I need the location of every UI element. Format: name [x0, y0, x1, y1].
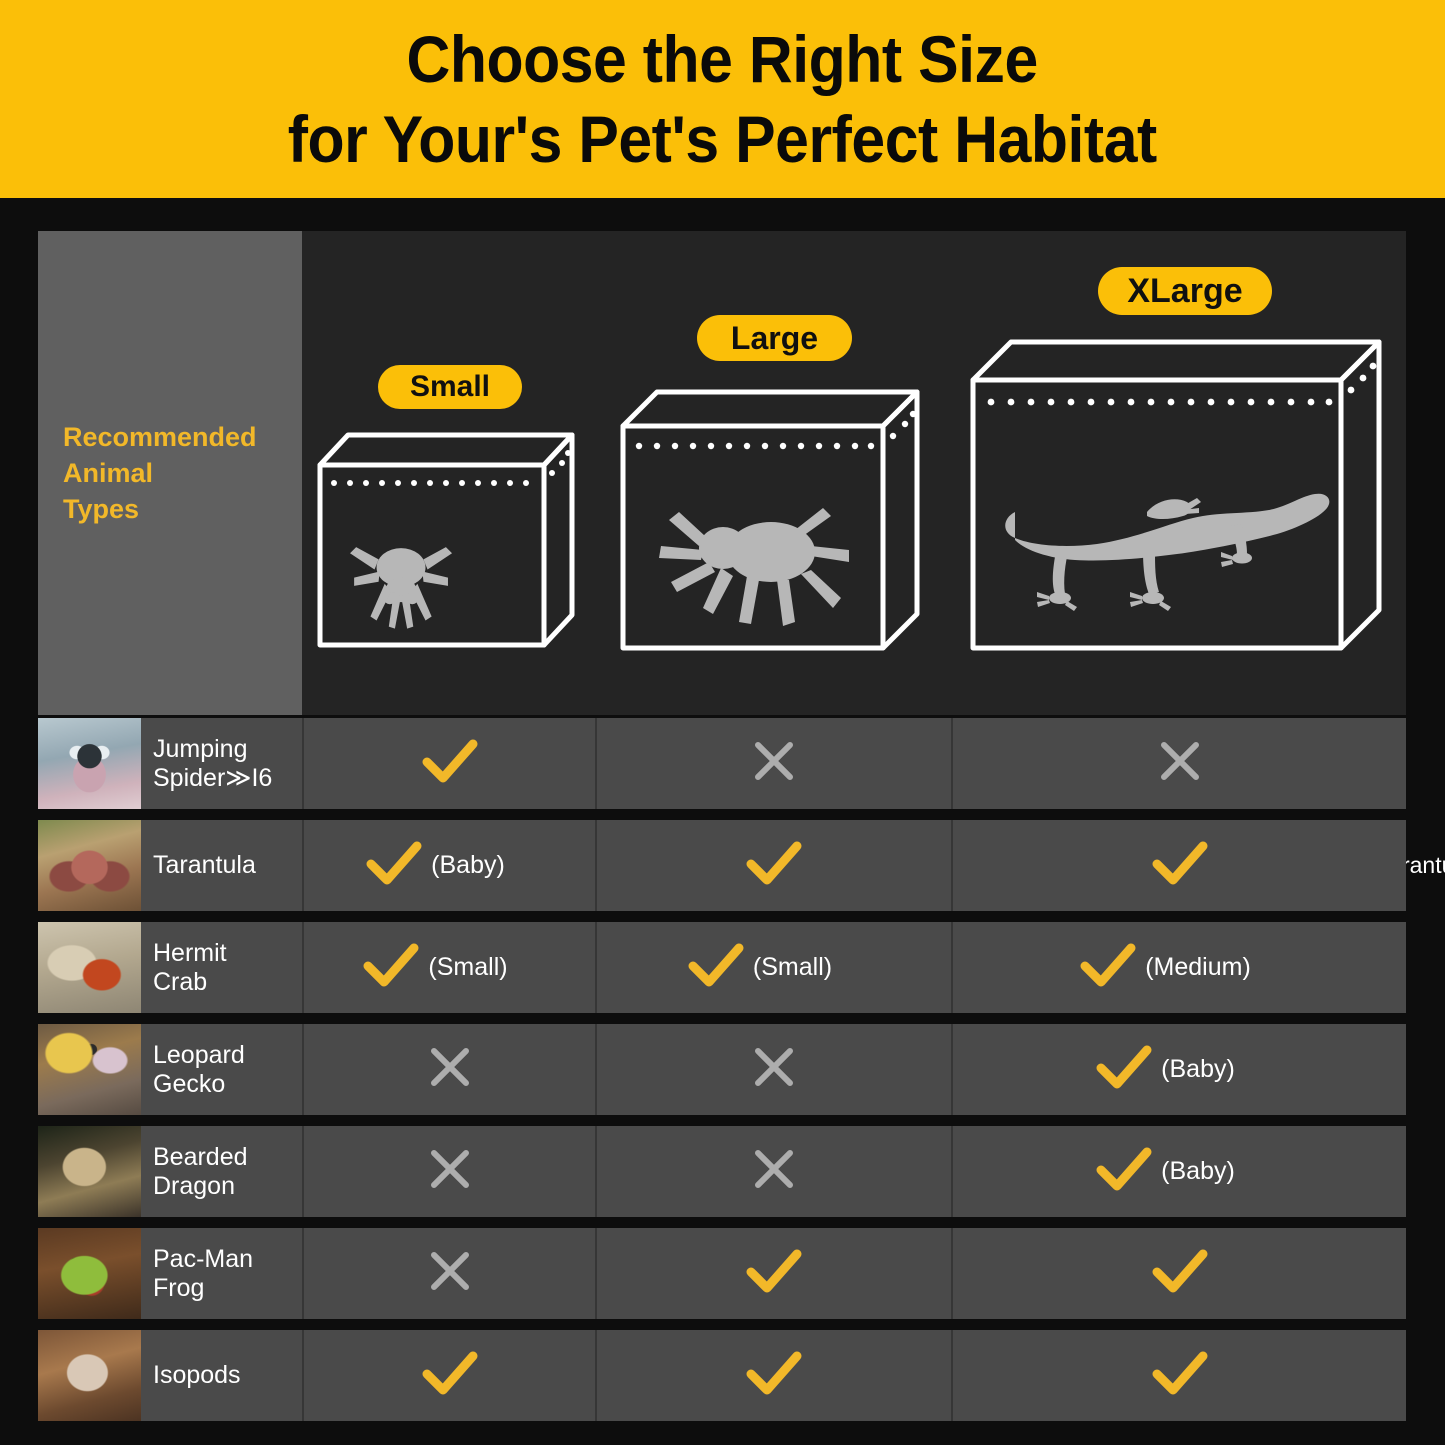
terrarium-xlarge-svg — [965, 332, 1389, 662]
check-icon — [1080, 942, 1136, 993]
compat-mark-wrap — [422, 1350, 478, 1401]
compat-mark-wrap — [1152, 1248, 1208, 1299]
compat-cell-xlarge — [951, 1228, 1406, 1319]
terrarium-small-svg — [312, 425, 580, 653]
animal-name-line-2: Spider≫I6 — [153, 764, 272, 793]
compat-cell-small: (Small) — [302, 922, 595, 1013]
compat-mark-wrap — [1152, 840, 1208, 891]
check-icon — [1152, 840, 1208, 886]
check-icon — [1152, 1248, 1208, 1299]
cross-icon — [427, 1146, 473, 1197]
compat-mark-wrap — [427, 1248, 473, 1299]
compat-cell-xlarge: (Baby) — [951, 1126, 1406, 1217]
check-icon — [746, 840, 802, 891]
check-icon — [1152, 1350, 1208, 1396]
compat-mark-wrap: (Small) — [363, 942, 507, 993]
leopard-gecko-silhouette — [1005, 494, 1329, 611]
terrarium-box-xlarge: Leopard Gecko — [965, 332, 1389, 662]
check-icon — [422, 1350, 478, 1396]
animal-name-label: HermitCrab — [153, 939, 227, 997]
tarantula-silhouette — [659, 508, 849, 626]
cross-icon — [1157, 738, 1203, 784]
compat-mark-wrap — [427, 1146, 473, 1197]
table-row: Pac-ManFrog — [38, 1228, 1406, 1319]
check-icon — [746, 1350, 802, 1401]
table-row: Tarantula(Baby) — [38, 820, 1406, 911]
cross-icon — [427, 1044, 473, 1095]
animal-name-line-1: Jumping — [153, 735, 272, 764]
table-row: HermitCrab(Small)(Small)(Medium) — [38, 922, 1406, 1013]
compat-mark-wrap — [427, 1044, 473, 1095]
animal-name-line-1: Bearded — [153, 1143, 248, 1172]
check-icon — [1152, 840, 1208, 891]
animal-name-cell: Pac-ManFrog — [141, 1228, 302, 1319]
check-icon — [422, 1350, 478, 1401]
compat-mark-wrap — [746, 1248, 802, 1299]
compat-cell-large — [595, 1126, 951, 1217]
cross-icon — [427, 1248, 473, 1294]
size-guide-infographic: Choose the Right Size for Your's Pet's P… — [0, 0, 1445, 1445]
animal-name-line-1: Pac-Man — [153, 1245, 253, 1274]
animal-name-cell: LeopardGecko — [141, 1024, 302, 1115]
compat-note: (Medium) — [1145, 953, 1251, 982]
animal-name-line-2: Dragon — [153, 1172, 248, 1201]
hermit-crab-photo — [38, 922, 141, 1013]
animal-name-cell: Tarantula — [141, 820, 302, 911]
check-icon — [1096, 1044, 1152, 1095]
leopard-gecko-photo — [38, 1024, 141, 1115]
animal-name-label: LeopardGecko — [153, 1041, 245, 1099]
cross-icon — [427, 1146, 473, 1192]
compat-cell-large — [595, 820, 951, 911]
animal-name-label: BeardedDragon — [153, 1143, 248, 1201]
cross-icon — [751, 738, 797, 784]
check-icon — [1096, 1146, 1152, 1197]
animal-name-label: JumpingSpider≫I6 — [153, 735, 272, 793]
animal-name-label: Tarantula — [153, 851, 256, 880]
animal-name-cell: BeardedDragon — [141, 1126, 302, 1217]
animal-name-line-1: Leopard — [153, 1041, 245, 1070]
compat-mark-wrap — [746, 1350, 802, 1401]
vent-holes-xlarge — [988, 363, 1377, 406]
terrarium-large-svg — [615, 382, 925, 660]
check-icon — [1152, 1248, 1208, 1294]
check-icon — [688, 942, 744, 988]
animal-name-line-1: Hermit — [153, 939, 227, 968]
banner-title-line-1: Choose the Right Size — [407, 19, 1038, 99]
compat-cell-xlarge: (Medium) — [951, 922, 1406, 1013]
recommended-animal-types-label: Recommended Animal Types — [38, 419, 257, 527]
size-badge-small: Small — [378, 365, 522, 409]
header-banner: Choose the Right Size for Your's Pet's P… — [0, 0, 1445, 198]
cross-icon — [751, 1044, 797, 1095]
terrarium-box-large: Tarantula — [615, 382, 925, 660]
types-header-line-2: Animal — [63, 455, 257, 491]
size-badge-xlarge: XLarge — [1098, 267, 1272, 315]
cross-icon — [751, 738, 797, 789]
jumping-spider-photo — [38, 718, 141, 809]
compat-mark-wrap: (Small) — [688, 942, 832, 993]
check-icon — [746, 1350, 802, 1396]
animal-name-line-2: Frog — [153, 1274, 253, 1303]
cross-icon — [1157, 738, 1203, 789]
compat-cell-large — [595, 1228, 951, 1319]
cross-icon — [427, 1248, 473, 1299]
compat-mark-wrap: (Baby) — [1096, 1044, 1235, 1095]
compat-mark-wrap — [751, 1044, 797, 1095]
types-header-line-3: Types — [63, 491, 257, 527]
types-header-line-1: Recommended — [63, 419, 257, 455]
pacman-frog-photo — [38, 1228, 141, 1319]
compat-cell-large: (Small) — [595, 922, 951, 1013]
compat-cell-small — [302, 1024, 595, 1115]
animal-name-line-1: Isopods — [153, 1361, 241, 1390]
check-icon — [688, 942, 744, 993]
animal-name-line-2: Crab — [153, 968, 227, 997]
check-icon — [363, 942, 419, 988]
animal-name-line-1: Tarantula — [153, 851, 256, 880]
animal-name-line-2: Gecko — [153, 1070, 245, 1099]
animal-name-label: Pac-ManFrog — [153, 1245, 253, 1303]
compat-note: (Baby) — [431, 851, 505, 880]
check-icon — [422, 738, 478, 784]
compat-mark-wrap — [1157, 738, 1203, 789]
cross-icon — [427, 1044, 473, 1090]
banner-title-line-2: for Your's Pet's Perfect Habitat — [288, 99, 1157, 179]
compat-cell-large — [595, 1024, 951, 1115]
animal-name-cell: Isopods — [141, 1330, 302, 1421]
compat-cell-xlarge — [951, 820, 1406, 911]
compat-mark-wrap: (Medium) — [1080, 942, 1251, 993]
check-icon — [422, 738, 478, 789]
table-row: LeopardGecko(Baby) — [38, 1024, 1406, 1115]
compat-cell-xlarge — [951, 1330, 1406, 1421]
vent-holes-large — [636, 411, 916, 449]
compat-cell-small — [302, 1330, 595, 1421]
compat-note: (Small) — [428, 953, 507, 982]
cross-icon — [751, 1146, 797, 1197]
check-icon — [1096, 1044, 1152, 1090]
table-row: JumpingSpider≫I6 — [38, 718, 1406, 809]
cross-icon — [751, 1044, 797, 1090]
compat-cell-large — [595, 718, 951, 809]
compat-cell-small: (Baby) — [302, 820, 595, 911]
compat-note: (Small) — [753, 953, 832, 982]
tarantula-photo — [38, 820, 141, 911]
table-row: BeardedDragon(Baby) — [38, 1126, 1406, 1217]
compat-cell-small — [302, 1126, 595, 1217]
compat-mark-wrap — [751, 738, 797, 789]
compat-cell-xlarge — [951, 718, 1406, 809]
compat-mark-wrap — [1152, 1350, 1208, 1401]
compat-mark-wrap — [422, 738, 478, 789]
compat-mark-wrap: (Baby) — [1096, 1146, 1235, 1197]
check-icon — [1080, 942, 1136, 988]
check-icon — [366, 840, 422, 891]
check-icon — [363, 942, 419, 993]
check-icon — [746, 1248, 802, 1294]
compat-cell-large — [595, 1330, 951, 1421]
cross-icon — [751, 1146, 797, 1192]
compat-note: (Baby) — [1161, 1055, 1235, 1084]
bearded-dragon-photo — [38, 1126, 141, 1217]
vent-holes-small — [331, 450, 571, 486]
animal-name-cell: HermitCrab — [141, 922, 302, 1013]
compat-mark-wrap — [746, 840, 802, 891]
compat-cell-small — [302, 1228, 595, 1319]
recommended-animal-types-header: Recommended Animal Types — [38, 231, 302, 715]
animal-name-cell: JumpingSpider≫I6 — [141, 718, 302, 809]
compat-mark-wrap: (Baby) — [366, 840, 505, 891]
animal-name-label: Isopods — [153, 1361, 241, 1390]
table-row: Isopods — [38, 1330, 1406, 1421]
check-icon — [746, 1248, 802, 1299]
compat-note: (Baby) — [1161, 1157, 1235, 1186]
compat-cell-xlarge: (Baby) — [951, 1024, 1406, 1115]
jumping-spider-silhouette — [350, 547, 452, 629]
compat-cell-small — [302, 718, 595, 809]
check-icon — [366, 840, 422, 886]
terrarium-box-small: Jumping Spider — [312, 425, 580, 653]
size-badge-large: Large — [697, 315, 852, 361]
check-icon — [1096, 1146, 1152, 1192]
check-icon — [1152, 1350, 1208, 1401]
compat-mark-wrap — [751, 1146, 797, 1197]
check-icon — [746, 840, 802, 886]
compatibility-table: JumpingSpider≫I6Tarantula(Baby)HermitCra… — [38, 718, 1406, 1421]
isopods-photo — [38, 1330, 141, 1421]
